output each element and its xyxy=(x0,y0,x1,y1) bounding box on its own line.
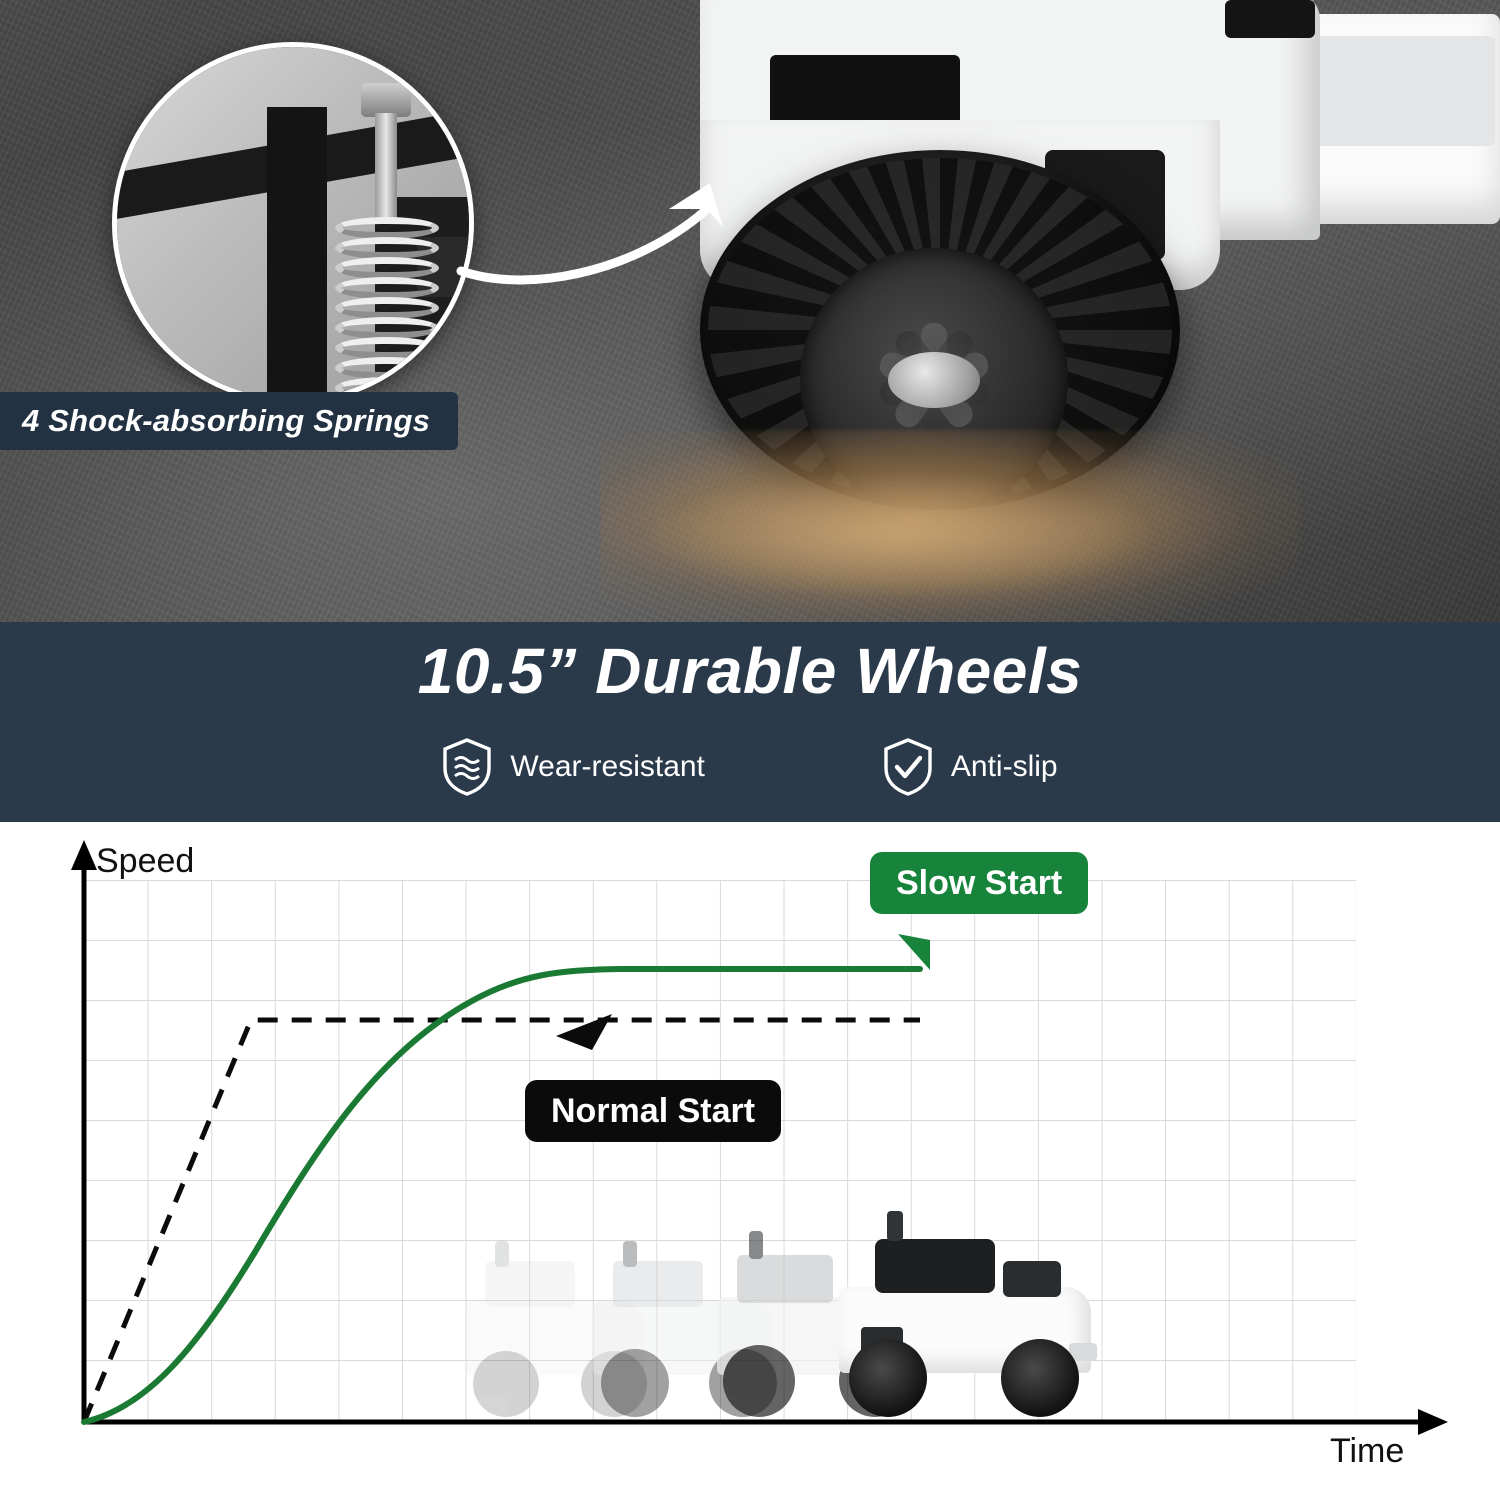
wheel-photo-panel: 4 Shock-absorbing Springs xyxy=(0,0,1500,622)
feature-label: Wear-resistant xyxy=(510,750,705,784)
feature-anti-slip: Anti-slip xyxy=(883,738,1058,796)
y-axis-label: Speed xyxy=(96,842,194,881)
spring-closeup-inset xyxy=(112,42,474,404)
shield-check-icon xyxy=(883,738,933,796)
feature-wear-resistant: Wear-resistant xyxy=(442,738,705,796)
slow-start-callout: Slow Start xyxy=(870,852,1088,914)
spring-icon xyxy=(335,217,439,404)
normal-start-callout-label: Normal Start xyxy=(551,1092,755,1131)
curved-arrow-icon xyxy=(455,175,785,305)
normal-start-callout: Normal Start xyxy=(525,1080,781,1142)
wheel-hub xyxy=(888,352,980,408)
feature-label: Anti-slip xyxy=(951,750,1058,784)
page-title: 10.5” Durable Wheels xyxy=(0,634,1500,708)
vehicle-trim-top xyxy=(1225,0,1315,38)
spring-label-text: 4 Shock-absorbing Springs xyxy=(22,403,430,439)
slow-start-callout-label: Slow Start xyxy=(896,864,1062,903)
speed-time-chart: Speed Time Slow Start Normal Start xyxy=(0,822,1500,1488)
shield-waves-icon xyxy=(442,738,492,796)
feature-list: Wear-resistant Anti-slip xyxy=(0,738,1500,796)
dust-cloud-core xyxy=(640,470,1160,600)
slow-start-callout-tail xyxy=(898,934,930,970)
spring-label-ribbon: 4 Shock-absorbing Springs xyxy=(0,392,458,450)
bolt-icon xyxy=(361,83,411,117)
x-axis-label: Time xyxy=(1330,1432,1404,1471)
product-infographic: 4 Shock-absorbing Springs 10.5” Durable … xyxy=(0,0,1500,1488)
vehicle-sequence xyxy=(455,1167,1085,1417)
